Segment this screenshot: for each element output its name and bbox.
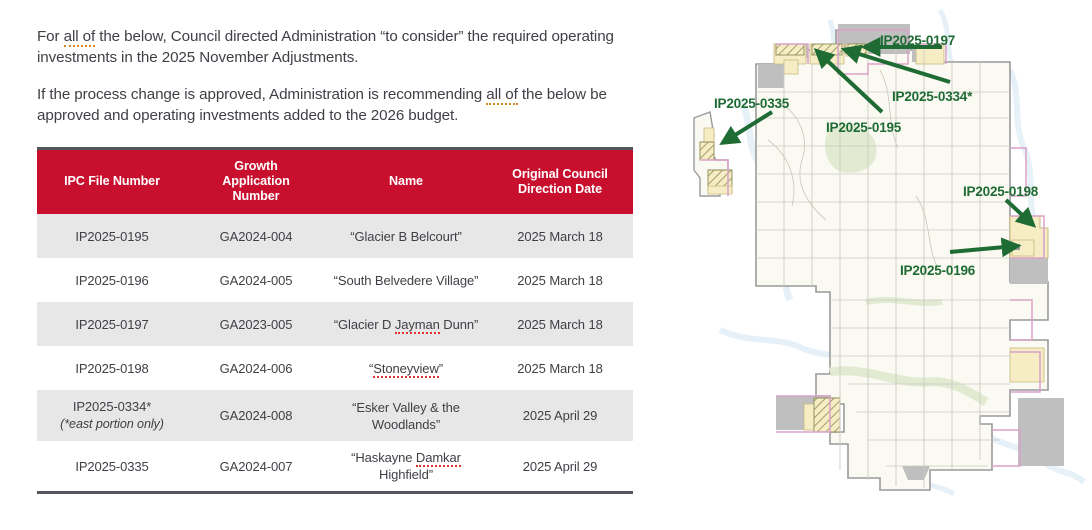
paragraph-2-prefix: If the process change is approved, Admin… xyxy=(37,86,486,103)
table-row: IP2025-0335 GA2024-007 “Haskayne Damkar … xyxy=(37,441,633,493)
header-line: Application xyxy=(222,174,289,188)
east-parcel-yellow-lower xyxy=(1010,348,1044,382)
cell-direction-date: 2025 March 18 xyxy=(487,346,633,390)
paragraph-2-highlight: all of xyxy=(486,86,517,105)
calgary-boundary-map: IP2025-0197 IP2025-0334* IP2025-0195 IP2… xyxy=(680,0,1092,530)
cell-direction-date: 2025 March 18 xyxy=(487,258,633,302)
paragraph-1-prefix: For xyxy=(37,28,64,45)
slide-root: For all of the below, Council directed A… xyxy=(0,0,1092,530)
cell-name: “South Belvedere Village” xyxy=(325,258,487,302)
cell-growth-application-number: GA2024-005 xyxy=(187,258,325,302)
cell-name: “Stoneyview” xyxy=(325,346,487,390)
southeast-grey-block xyxy=(1018,398,1064,466)
header-line: Original Council xyxy=(512,167,608,181)
ipc-file-number-value: IP2025-0196 xyxy=(75,273,148,288)
cell-growth-application-number: GA2024-006 xyxy=(187,346,325,390)
cell-direction-date: 2025 March 18 xyxy=(487,214,633,258)
cell-growth-application-number: GA2024-008 xyxy=(187,390,325,441)
spellcheck-underline: Jayman xyxy=(395,317,440,334)
content-panel: For all of the below, Council directed A… xyxy=(37,26,673,496)
table-row: IP2025-0334* (*east portion only) GA2024… xyxy=(37,390,633,441)
cell-direction-date: 2025 April 29 xyxy=(487,390,633,441)
ipc-table-body: IP2025-0195 GA2024-004 “Glacier B Belcou… xyxy=(37,214,633,493)
map-label-ip2025-0334: IP2025-0334* xyxy=(892,89,973,104)
table-header-row: IPC File Number Growth Application Numbe… xyxy=(37,149,633,215)
table-row: IP2025-0195 GA2024-004 “Glacier B Belcou… xyxy=(37,214,633,258)
map-label-ip2025-0198: IP2025-0198 xyxy=(963,184,1039,199)
table-row: IP2025-0197 GA2023-005 “Glacier D Jayman… xyxy=(37,302,633,346)
cell-ipc-file-number: IP2025-0335 xyxy=(37,441,187,493)
cell-growth-application-number: GA2024-004 xyxy=(187,214,325,258)
header-line: Growth xyxy=(234,159,277,173)
column-header-original-council-direction-date: Original Council Direction Date xyxy=(487,149,633,215)
table-row: IP2025-0196 GA2024-005 “South Belvedere … xyxy=(37,258,633,302)
ipc-table-head: IPC File Number Growth Application Numbe… xyxy=(37,149,633,215)
cell-growth-application-number: GA2023-005 xyxy=(187,302,325,346)
spellcheck-underline: Stoneyview xyxy=(373,361,438,378)
cell-ipc-file-number: IP2025-0334* (*east portion only) xyxy=(37,390,187,441)
paragraph-1-suffix: the below, Council directed Administrati… xyxy=(37,28,614,66)
cell-name: “Glacier B Belcourt” xyxy=(325,214,487,258)
west-parcel-hatched xyxy=(700,142,714,160)
cell-direction-date: 2025 April 29 xyxy=(487,441,633,493)
header-line: Name xyxy=(389,174,423,188)
cell-name: “Esker Valley & the Woodlands” xyxy=(325,390,487,441)
intro-paragraph-1: For all of the below, Council directed A… xyxy=(37,26,673,68)
park-bow-river-corridor xyxy=(866,300,942,303)
ipc-file-number-value: IP2025-0334* xyxy=(73,399,151,414)
column-header-growth-application-number: Growth Application Number xyxy=(187,149,325,215)
intro-paragraph-2: If the process change is approved, Admin… xyxy=(37,84,673,126)
ipc-table: IPC File Number Growth Application Numbe… xyxy=(37,147,633,494)
header-line: Direction Date xyxy=(518,182,602,196)
cell-name: “Haskayne Damkar Highfield” xyxy=(325,441,487,493)
cell-ipc-file-number: IP2025-0198 xyxy=(37,346,187,390)
map-label-ip2025-0197: IP2025-0197 xyxy=(880,33,955,48)
name-value: “Haskayne Damkar Highfield” xyxy=(351,450,461,482)
southwest-hatched-block xyxy=(814,398,840,432)
map-label-ip2025-0195: IP2025-0195 xyxy=(826,120,902,135)
ipc-table-container: IPC File Number Growth Application Numbe… xyxy=(37,147,633,494)
north-parcel-small-yellow xyxy=(784,60,798,74)
column-header-name: Name xyxy=(325,149,487,215)
city-map-panel: IP2025-0197 IP2025-0334* IP2025-0195 IP2… xyxy=(680,0,1092,530)
map-label-ip2025-0196: IP2025-0196 xyxy=(900,263,976,278)
name-value: “Glacier D Jayman Dunn” xyxy=(334,317,478,334)
ipc-file-number-value: IP2025-0335 xyxy=(75,459,148,474)
header-line: IPC File Number xyxy=(64,174,160,188)
cell-direction-date: 2025 March 18 xyxy=(487,302,633,346)
ipc-file-number-note: (*east portion only) xyxy=(41,416,183,433)
ipc-file-number-value: IP2025-0195 xyxy=(75,229,148,244)
cell-ipc-file-number: IP2025-0196 xyxy=(37,258,187,302)
paragraph-1-highlight: all of xyxy=(64,28,95,47)
cell-ipc-file-number: IP2025-0197 xyxy=(37,302,187,346)
cell-ipc-file-number: IP2025-0195 xyxy=(37,214,187,258)
cell-name: “Glacier D Jayman Dunn” xyxy=(325,302,487,346)
east-grey-block xyxy=(1010,256,1048,284)
column-header-ipc-file-number: IPC File Number xyxy=(37,149,187,215)
header-line: Number xyxy=(233,189,280,203)
name-value: “Stoneyview” xyxy=(369,361,443,378)
map-label-ip2025-0335: IP2025-0335 xyxy=(714,96,790,111)
table-row: IP2025-0198 GA2024-006 “Stoneyview” 2025… xyxy=(37,346,633,390)
north-grey-block-c xyxy=(758,64,784,88)
ipc-file-number-value: IP2025-0198 xyxy=(75,361,148,376)
cell-growth-application-number: GA2024-007 xyxy=(187,441,325,493)
ipc-file-number-value: IP2025-0197 xyxy=(75,317,148,332)
north-parcel-hatched-west xyxy=(776,44,804,55)
spellcheck-underline: Damkar xyxy=(416,450,461,467)
